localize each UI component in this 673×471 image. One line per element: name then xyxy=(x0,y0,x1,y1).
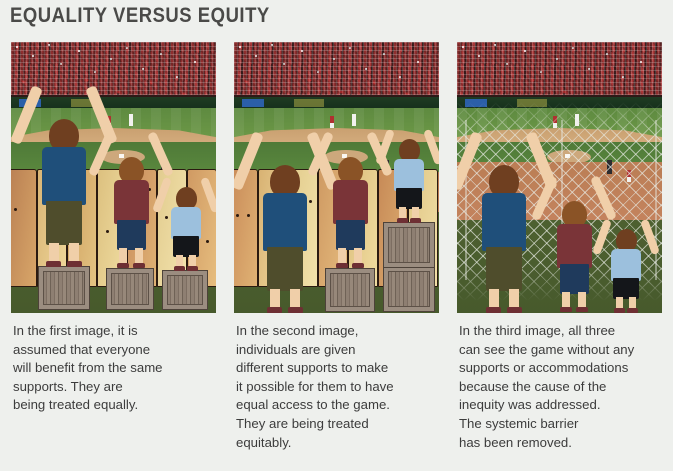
tall-person xyxy=(33,71,95,267)
stadium-crowd xyxy=(234,42,439,104)
caption-justice: In the third image, all three can see th… xyxy=(459,322,671,452)
panel-justice xyxy=(457,42,662,313)
panel-equity xyxy=(234,42,439,313)
support-box xyxy=(107,269,153,309)
panel-equality xyxy=(11,42,216,313)
fence-post xyxy=(655,120,657,280)
medium-person xyxy=(549,165,599,313)
small-person xyxy=(388,117,430,223)
page-title: EQUALITY VERSUS EQUITY xyxy=(10,4,270,28)
panel-row xyxy=(0,42,673,313)
caption-row: In the first image, it is assumed that e… xyxy=(0,322,673,462)
small-person xyxy=(165,165,207,271)
support-box xyxy=(163,271,207,309)
small-person xyxy=(605,207,647,313)
support-box xyxy=(39,267,89,309)
support-box xyxy=(384,223,434,267)
caption-equity: In the second image, individuals are giv… xyxy=(236,322,444,452)
caption-equality: In the first image, it is assumed that e… xyxy=(13,322,221,415)
tall-person xyxy=(473,117,535,313)
tall-person xyxy=(254,117,316,313)
support-box xyxy=(384,267,434,311)
medium-person xyxy=(325,121,375,269)
support-box xyxy=(326,269,374,311)
stadium-crowd xyxy=(457,42,662,104)
medium-person xyxy=(106,121,156,269)
